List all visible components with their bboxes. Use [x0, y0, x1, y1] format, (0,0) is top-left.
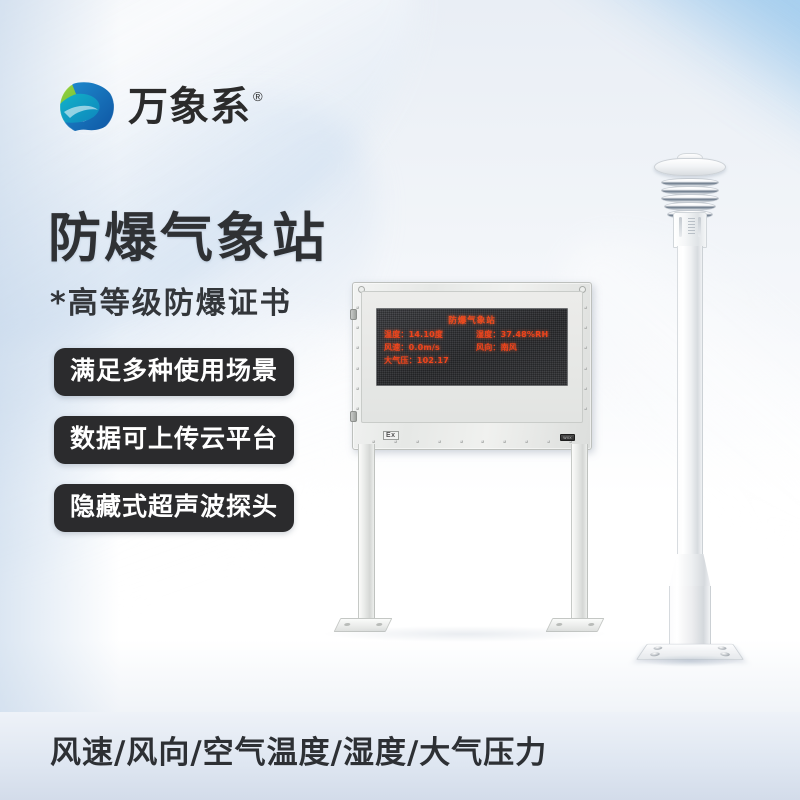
globe-swirl-logo-icon: [58, 78, 116, 136]
feature-caption: 风速/风向/空气温度/湿度/大气压力: [50, 727, 547, 772]
sensor-body: [673, 212, 707, 248]
feature-pill-2: 数据可上传云平台: [54, 416, 294, 464]
feature-list: 满足多种使用场景 数据可上传云平台 隐藏式超声波探头: [54, 348, 294, 532]
led-row-1: 温度：14.10度 湿度：37.48%RH: [384, 329, 560, 340]
bolt-row-right: [584, 297, 588, 419]
bolt-row-bottom: [353, 440, 591, 443]
led-reading-temperature: 温度：14.10度: [384, 329, 476, 340]
pole-lower-section: [669, 586, 711, 644]
mounting-pole-icon: [677, 246, 703, 562]
led-readings: 温度：14.10度 湿度：37.48%RH 风速：0.0m/s 风向：南风 大气…: [384, 329, 560, 366]
led-row-3: 大气压：102.17: [384, 355, 560, 366]
display-station-unit: 防爆气象站 温度：14.10度 湿度：37.48%RH 风速：0.0m/s 风向…: [325, 282, 605, 667]
page-subtitle: *高等级防爆证书: [50, 278, 292, 322]
led-reading-humidity: 湿度：37.48%RH: [476, 329, 548, 340]
pole-ground-shadow: [641, 655, 739, 667]
led-screen-title: 防爆气象站: [384, 314, 560, 326]
pole-flare: [669, 554, 711, 588]
sensor-vent-slits: [688, 218, 695, 234]
led-reading-wind-speed: 风速：0.0m/s: [384, 342, 476, 353]
brand-name: 万象系: [128, 87, 251, 127]
ultrasonic-sensor-head-icon: [654, 158, 726, 176]
explosion-proof-cabinet: 防爆气象站 温度：14.10度 湿度：37.48%RH 风速：0.0m/s 风向…: [352, 282, 592, 450]
sensor-pole-unit: [625, 150, 755, 670]
feature-pill-3: 隐藏式超声波探头: [54, 484, 294, 532]
brand-logo: 万象系 ®: [58, 78, 263, 136]
display-unit-shadow: [325, 626, 605, 642]
cabinet-inner-frame: 防爆气象站 温度：14.10度 湿度：37.48%RH 风速：0.0m/s 风向…: [361, 291, 583, 423]
page-title: 防爆气象站: [48, 196, 328, 272]
led-row-2: 风速：0.0m/s 风向：南风: [384, 342, 560, 353]
trademark-symbol: ®: [253, 89, 263, 104]
brand-name-wrap: 万象系 ®: [128, 87, 263, 127]
bolt-row-left: [356, 297, 360, 419]
led-reading-pressure: 大气压：102.17: [384, 355, 476, 366]
ex-certification-mark: Ex: [383, 431, 399, 440]
led-reading-wind-direction: 风向：南风: [476, 342, 517, 353]
nameplate-text: WXX: [563, 436, 572, 440]
feature-pill-1: 满足多种使用场景: [54, 348, 294, 396]
led-display-screen: 防爆气象站 温度：14.10度 湿度：37.48%RH 风速：0.0m/s 风向…: [376, 308, 568, 386]
stand-leg-left: [358, 444, 375, 622]
stand-leg-right: [571, 444, 588, 622]
product-nameplate: WXX: [560, 434, 575, 441]
